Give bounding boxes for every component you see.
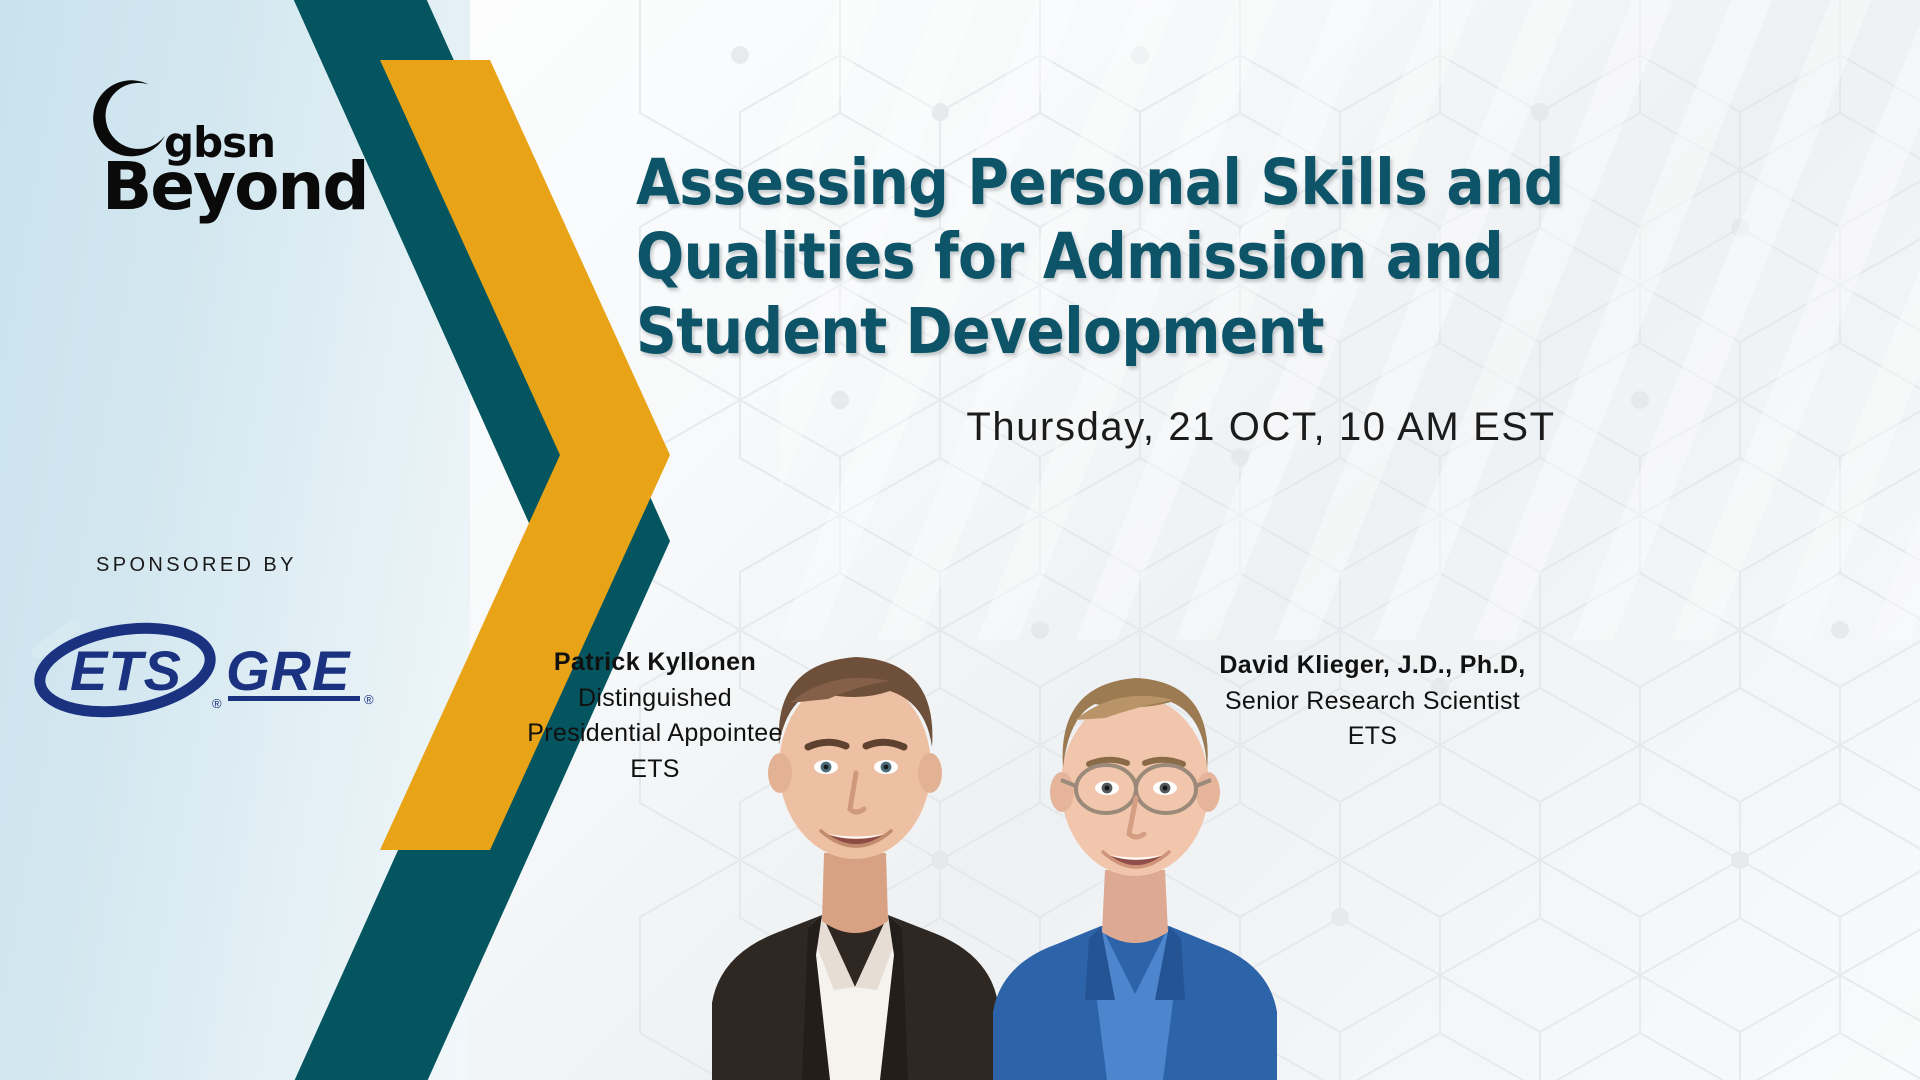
event-datetime: Thursday, 21 OCT, 10 AM EST — [636, 405, 1886, 450]
speaker-name: David Klieger, J.D., Ph.D, — [1200, 648, 1545, 684]
gre-logo: GRE ® — [222, 612, 387, 722]
ets-logo: ETS ® — [30, 612, 230, 722]
svg-text:ETS: ETS — [70, 639, 182, 702]
speaker-role-line-2: Presidential Appointee — [500, 716, 810, 752]
sponsor-logos: ETS ® GRE ® — [30, 612, 390, 722]
title-line-1: Assessing Personal Skills and — [636, 146, 1886, 220]
page-title: Assessing Personal Skills and Qualities … — [636, 146, 1886, 369]
speaker-role-line-1: Distinguished — [500, 681, 810, 717]
speaker-photo-david-klieger — [975, 560, 1295, 1080]
logo-beyond-text: Beyond — [102, 154, 368, 220]
speaker-org: ETS — [500, 752, 810, 788]
svg-text:GRE: GRE — [226, 639, 351, 702]
speaker-photo-patrick-kyllonen — [690, 535, 1020, 1080]
title-line-2: Qualities for Admission and — [636, 220, 1886, 294]
speaker-org: ETS — [1200, 719, 1545, 755]
speaker-photos — [690, 530, 1330, 1080]
sponsored-by-label: SPONSORED BY — [96, 554, 297, 577]
webinar-promo-banner: gbsn Beyond SPONSORED BY ETS ® GRE ® Ass… — [0, 0, 1920, 1080]
gbsn-beyond-logo: gbsn Beyond — [78, 78, 338, 238]
speaker-role-line-1: Senior Research Scientist — [1200, 684, 1545, 720]
speaker-info-david-klieger: David Klieger, J.D., Ph.D, Senior Resear… — [1200, 648, 1545, 755]
title-line-3: Student Development — [636, 295, 1886, 369]
speaker-name: Patrick Kyllonen — [500, 645, 810, 681]
speaker-info-patrick-kyllonen: Patrick Kyllonen Distinguished President… — [500, 645, 810, 787]
svg-text:®: ® — [364, 692, 374, 707]
svg-text:®: ® — [212, 696, 222, 711]
